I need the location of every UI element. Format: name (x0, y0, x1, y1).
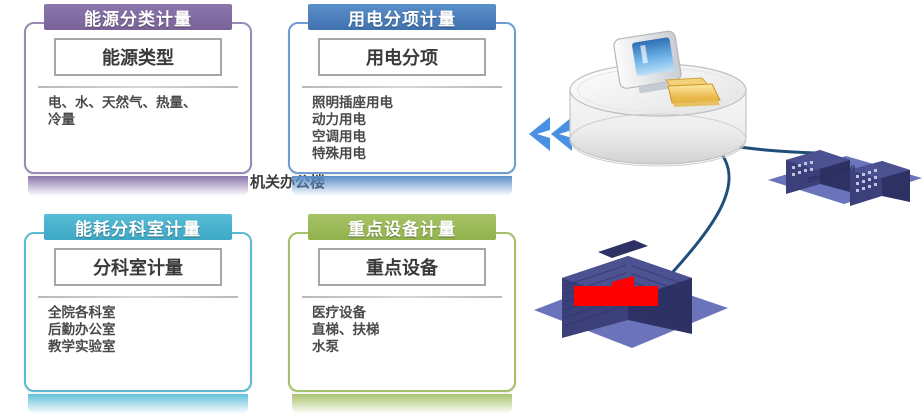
list-item: 教学实验室 (48, 338, 238, 355)
energy-data-center-graphic: Office Building (516, 20, 923, 410)
card-divider (302, 86, 502, 88)
list-item: 全院各科室 (48, 304, 238, 321)
card-header: 能耗分科室计量 (44, 214, 232, 240)
diagram-canvas: 能源类型 电、水、天然气、热量、 冷量 能源分类计量 用电分项 照明插座用电 动… (0, 0, 923, 420)
card-body: 用电分项 照明插座用电 动力用电 空调用电 特殊用电 (288, 22, 516, 174)
card-header: 用电分项计量 (308, 4, 496, 30)
card-inner-title: 用电分项 (318, 38, 486, 76)
list-item: 水泵 (312, 338, 502, 355)
card-divider (38, 86, 238, 88)
card-reflection (28, 176, 248, 196)
card-item-list: 电、水、天然气、热量、 冷量 (48, 94, 238, 128)
card-energy-category[interactable]: 能源类型 电、水、天然气、热量、 冷量 能源分类计量 (24, 4, 252, 196)
card-electricity-subitem[interactable]: 用电分项 照明插座用电 动力用电 空调用电 特殊用电 用电分项计量 (288, 4, 516, 196)
list-item: 动力用电 (312, 111, 502, 128)
list-item: 空调用电 (312, 128, 502, 145)
clinic-building-icon (534, 240, 728, 348)
card-header: 能源分类计量 (44, 4, 232, 30)
card-divider (302, 296, 502, 298)
office-building-icon: Office Building (768, 150, 922, 206)
list-item: 照明插座用电 (312, 94, 502, 111)
card-reflection (28, 394, 248, 414)
card-header: 重点设备计量 (308, 214, 496, 240)
list-item: 后勤办公室 (48, 321, 238, 338)
connector-to-clinic (664, 144, 729, 282)
list-item: 医疗设备 (312, 304, 502, 321)
card-body: 能源类型 电、水、天然气、热量、 冷量 (24, 22, 252, 174)
list-item: 冷量 (48, 111, 238, 128)
card-inner-title: 分科室计量 (54, 248, 222, 286)
list-item: 直梯、扶梯 (312, 321, 502, 338)
card-reflection (292, 394, 512, 414)
card-inner-title: 重点设备 (318, 248, 486, 286)
list-item: 特殊用电 (312, 145, 502, 162)
card-body: 分科室计量 全院各科室 后勤办公室 教学实验室 (24, 232, 252, 392)
card-department-metering[interactable]: 分科室计量 全院各科室 后勤办公室 教学实验室 能耗分科室计量 (24, 214, 252, 414)
card-item-list: 医疗设备 直梯、扶梯 水泵 (312, 304, 502, 355)
card-item-list: 全院各科室 后勤办公室 教学实验室 (48, 304, 238, 355)
card-item-list: 照明插座用电 动力用电 空调用电 特殊用电 (312, 94, 502, 162)
card-body: 重点设备 医疗设备 直梯、扶梯 水泵 (288, 232, 516, 392)
list-item: 电、水、天然气、热量、 (48, 94, 238, 111)
card-key-equipment[interactable]: 重点设备 医疗设备 直梯、扶梯 水泵 重点设备计量 (288, 214, 516, 414)
card-reflection (292, 176, 512, 196)
card-inner-title: 能源类型 (54, 38, 222, 76)
card-divider (38, 296, 238, 298)
